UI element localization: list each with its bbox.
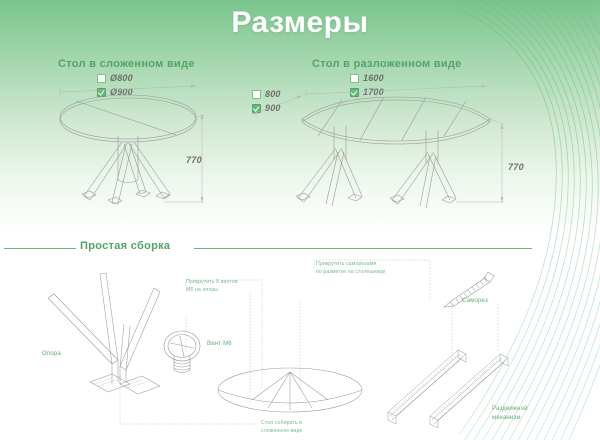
option-row[interactable]: Ø800 [97,72,133,84]
note-bolts: Прикрутить 8 винтов М6 на опоры [186,279,238,294]
checkbox-checked[interactable] [350,88,359,97]
instruction-sheet: Размеры Стол в сложенном виде Ø800 Ø900 [0,0,600,440]
option-group-folded-diameter: Ø800 Ø900 [97,72,133,100]
option-row[interactable]: 800 [252,88,281,100]
checkbox-unchecked[interactable] [252,90,261,99]
option-label: 800 [265,89,281,99]
dimension-height-folded: 770 [186,155,202,165]
option-group-unfolded-length: 1600 1700 [350,72,384,100]
option-row[interactable]: 900 [252,102,281,114]
note-assemble-folded: Стол собирать в сложенном виде [261,420,302,435]
checkbox-checked[interactable] [97,88,106,97]
option-label: Ø800 [110,73,133,83]
leg-base-drawing [28,272,188,394]
divider-left [4,248,76,249]
part-label-vint-m6: Винт М6 [207,340,232,349]
option-row[interactable]: 1600 [350,72,384,84]
option-label: 1600 [363,73,384,83]
part-label-samorez: Саморез [462,297,488,306]
tabletop-underside-drawing [210,366,370,422]
checkbox-unchecked[interactable] [97,74,106,83]
divider-right [194,248,532,249]
part-label-mechanism: Раздвижной механизм [492,405,528,422]
assembly-section-header: Простая сборка [0,240,600,256]
checkbox-checked[interactable] [252,104,261,113]
option-label: 1700 [363,87,384,97]
dimension-height-unfolded: 770 [508,162,524,172]
page-title: Размеры [0,6,600,40]
section-heading-unfolded: Стол в разложенном виде [312,58,462,70]
assembly-heading: Простая сборка [80,240,170,252]
note-screws: Прикрутить саморезами по разметке на сто… [316,261,386,276]
checkbox-unchecked[interactable] [350,74,359,83]
option-group-unfolded-depth: 800 900 [252,88,281,116]
option-label: Ø900 [110,87,133,97]
option-label: 900 [265,103,281,113]
part-label-opora: Опора [42,350,61,359]
option-row[interactable]: Ø900 [97,86,133,98]
bolt-m6-drawing [160,326,216,382]
option-row[interactable]: 1700 [350,86,384,98]
section-heading-folded: Стол в сложенном виде [58,58,195,70]
